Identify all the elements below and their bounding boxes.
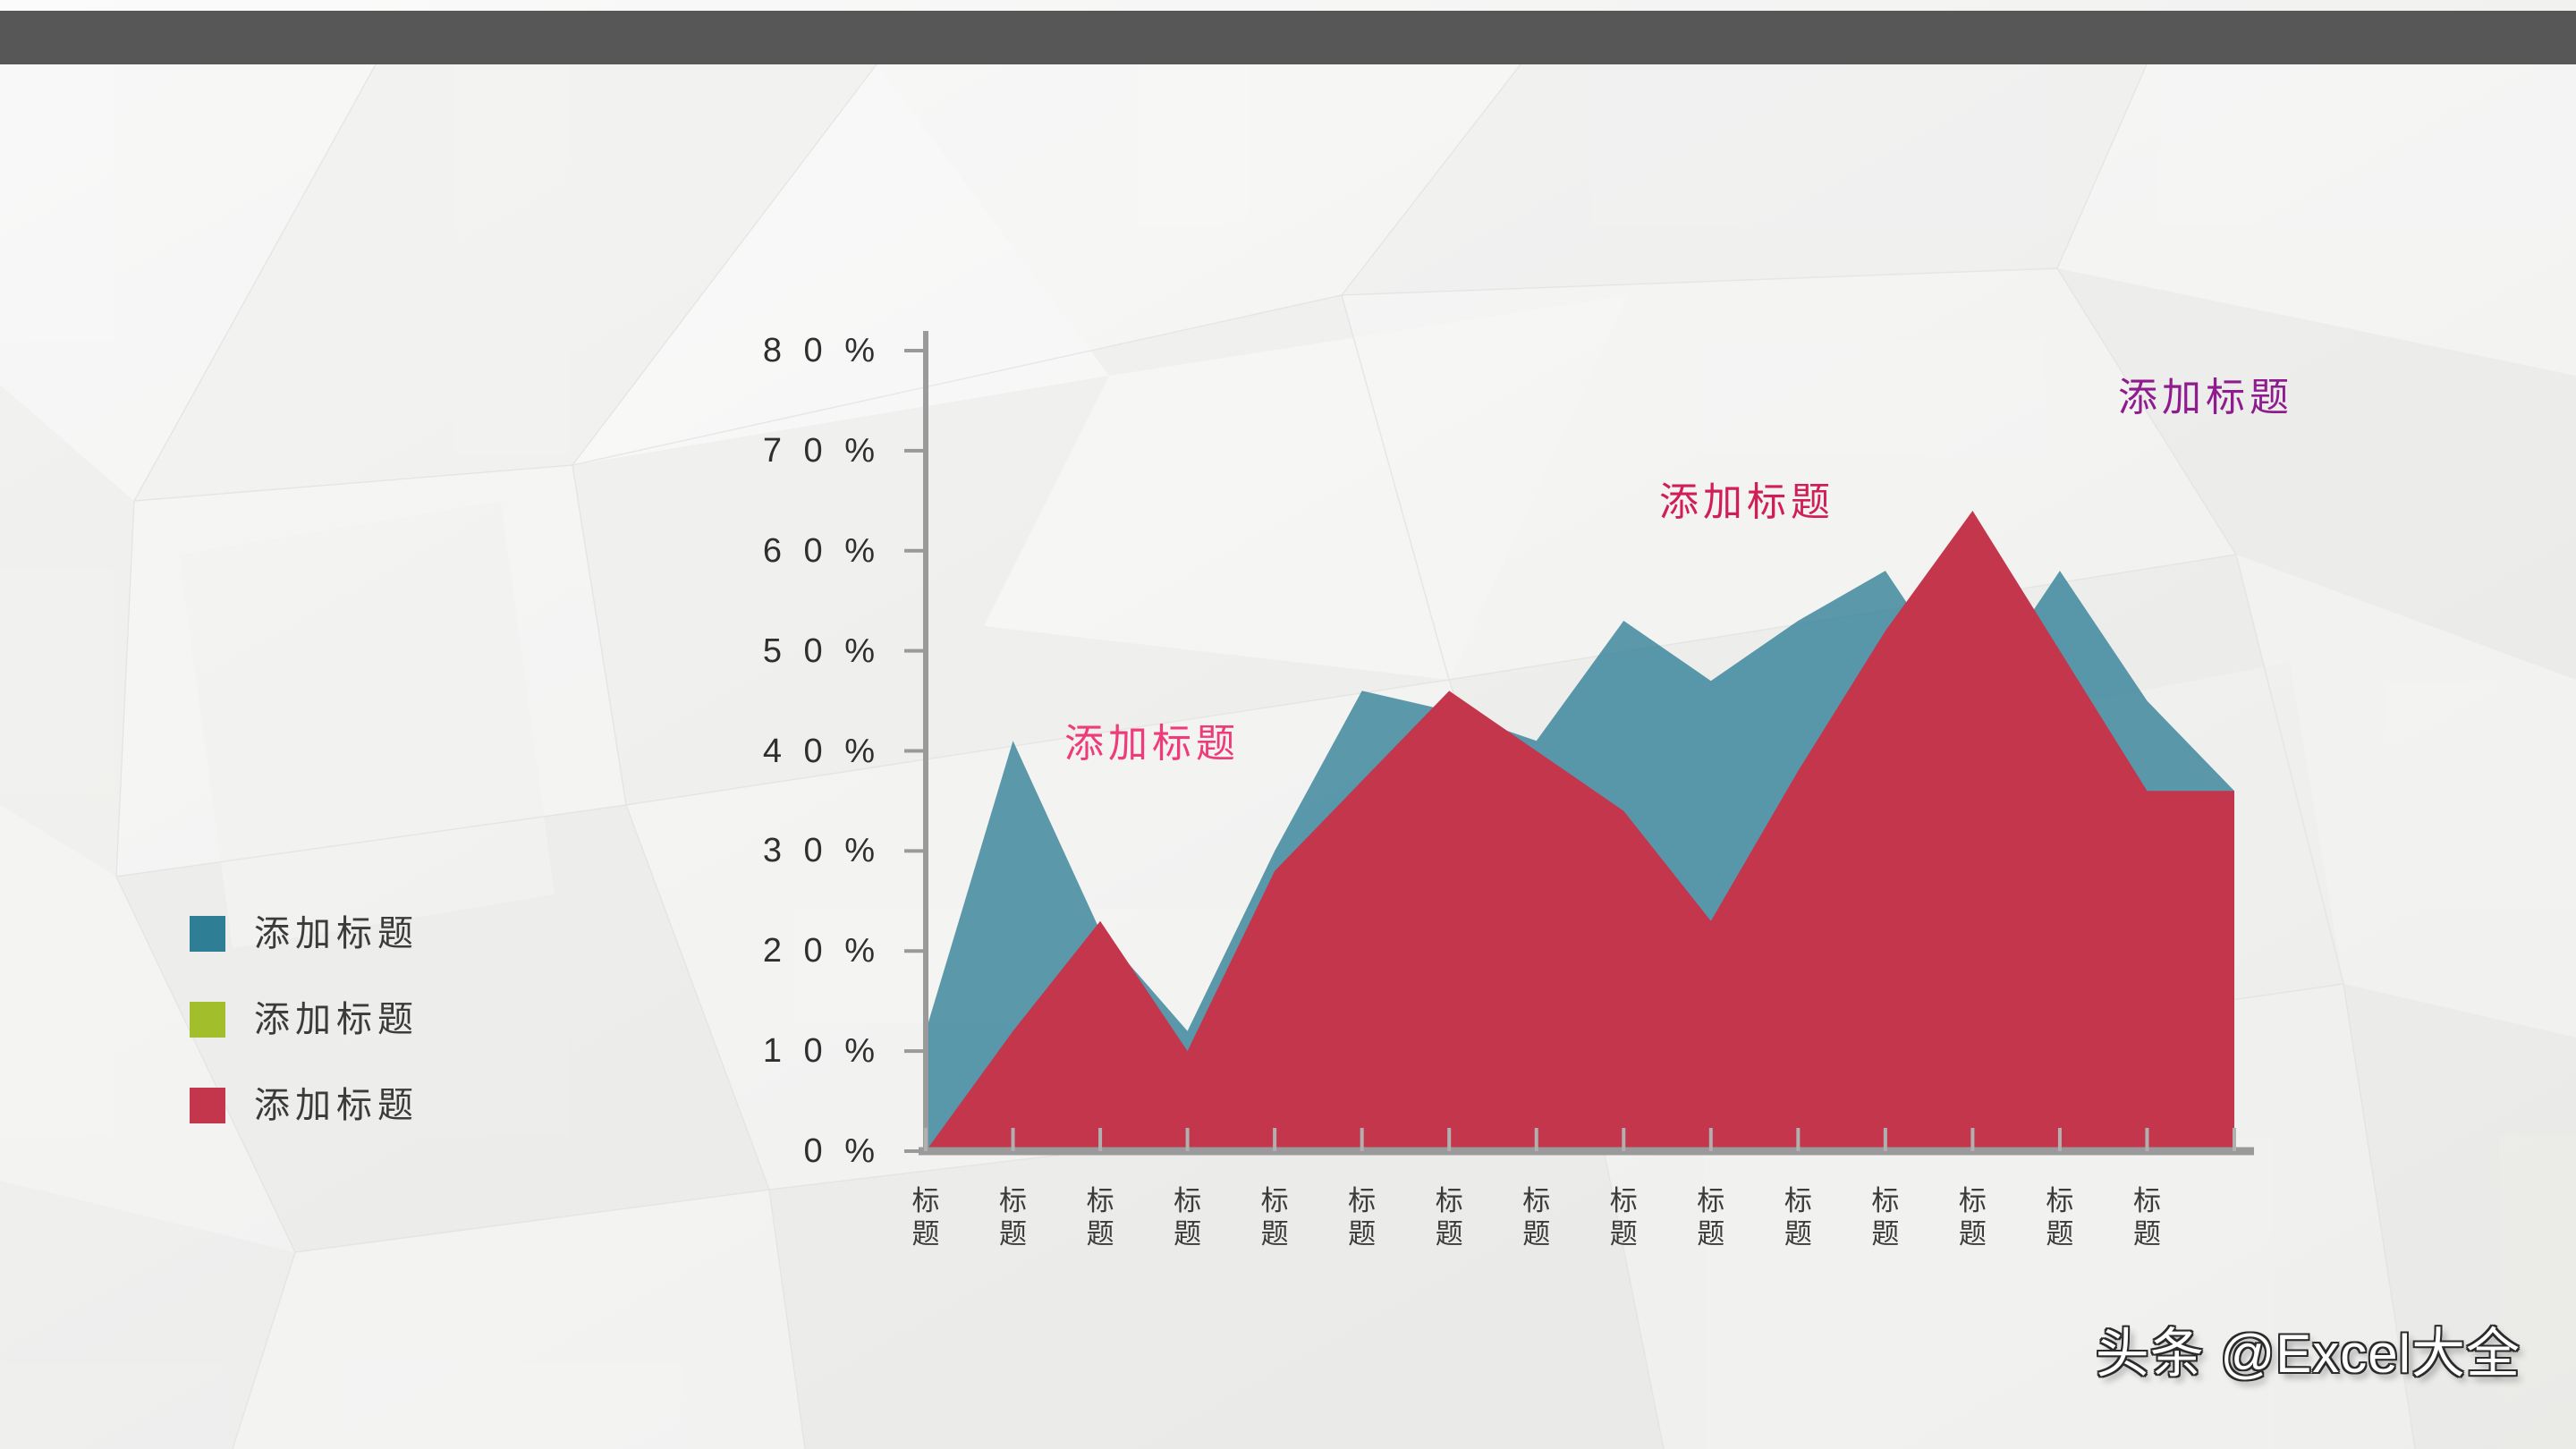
chart-annotation-2: 添加标题 <box>1659 483 1835 522</box>
x-axis-label-14: 标题 <box>2093 1185 2200 1250</box>
legend-item-2[interactable]: 添加标题 <box>190 996 419 1043</box>
legend-swatch-teal <box>190 916 225 952</box>
chart-annotation-3: 添加标题 <box>2118 378 2293 418</box>
area-chart: 0 %1 0 %2 0 %3 0 %4 0 %5 0 %6 0 %7 0 %8 … <box>0 0 2576 1449</box>
x-axis-label-char: 题 <box>2093 1218 2200 1251</box>
y-axis-label-0: 0 % <box>666 1134 881 1168</box>
y-axis-label-8: 8 0 % <box>666 334 881 368</box>
legend-swatch-green <box>190 1002 225 1038</box>
legend-swatch-crimson <box>190 1088 225 1123</box>
y-axis-label-2: 2 0 % <box>666 934 881 968</box>
legend-item-1[interactable]: 添加标题 <box>190 911 419 957</box>
y-axis-label-4: 4 0 % <box>666 734 881 768</box>
y-axis-label-5: 5 0 % <box>666 634 881 668</box>
watermark: 头条 @Excel大全 <box>2096 1310 2521 1388</box>
chart-annotation-1: 添加标题 <box>1064 724 1240 764</box>
legend-label-2: 添加标题 <box>254 1002 419 1038</box>
legend-label-1: 添加标题 <box>254 916 419 952</box>
chart-legend: 添加标题 添加标题 添加标题 <box>190 911 419 1168</box>
x-axis-label-char: 标 <box>2093 1185 2200 1218</box>
y-axis-label-7: 7 0 % <box>666 434 881 468</box>
plot-series-areas <box>926 511 2234 1151</box>
y-axis-label-3: 3 0 % <box>666 834 881 868</box>
y-axis-label-1: 1 0 % <box>666 1034 881 1068</box>
legend-item-3[interactable]: 添加标题 <box>190 1082 419 1129</box>
legend-label-3: 添加标题 <box>254 1088 419 1123</box>
y-axis-label-6: 6 0 % <box>666 534 881 568</box>
